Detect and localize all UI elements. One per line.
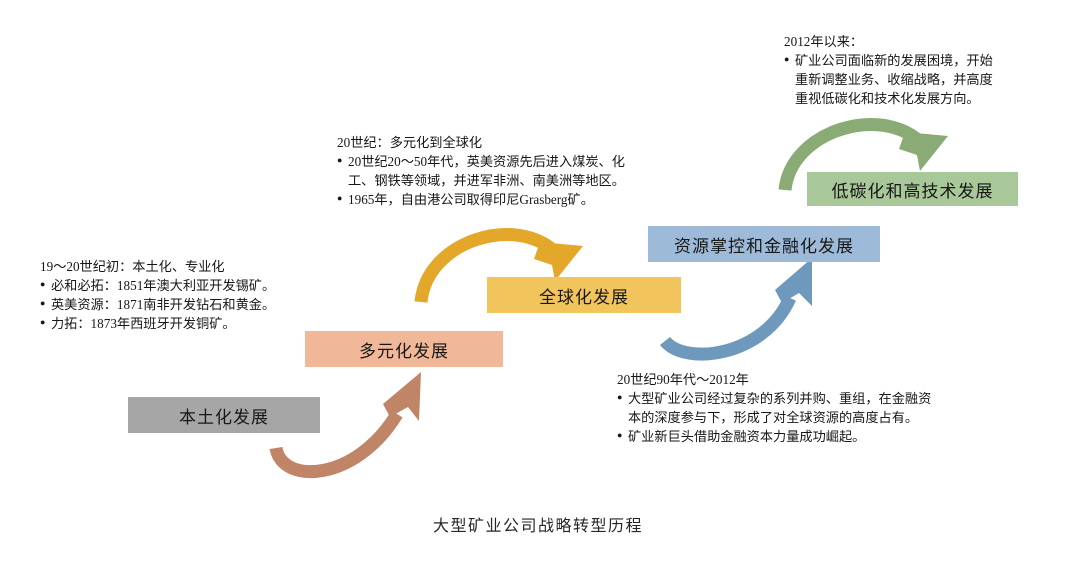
- annotation-heading: 19～20世纪初：本土化、专业化: [40, 257, 275, 276]
- stage-box-label: 全球化发展: [539, 283, 629, 308]
- annotation-1: 19～20世纪初：本土化、专业化必和必拓：1851年澳大利亚开发锡矿。英美资源：…: [40, 257, 275, 334]
- annotation-bullet-cont: 本的深度参与下，形成了对全球资源的高度占有。: [617, 408, 931, 427]
- stage-box-label: 多元化发展: [359, 337, 449, 362]
- stage-box-label: 低碳化和高技术发展: [832, 177, 994, 202]
- annotation-2: 20世纪：多元化到全球化20世纪20～50年代，英美资源先后进入煤炭、化工、钢铁…: [337, 133, 625, 210]
- stage-box-label: 本土化发展: [179, 403, 269, 428]
- annotation-bullet: 矿业公司面临新的发展困境，开始: [784, 51, 993, 70]
- arrow-diversified-to-global-head: [534, 242, 583, 281]
- annotation-heading: 20世纪：多元化到全球化: [337, 133, 625, 152]
- diagram-canvas: 本土化发展多元化发展全球化发展资源掌控和金融化发展低碳化和高技术发展 19～20…: [0, 0, 1076, 566]
- page-title: 大型矿业公司战略转型历程: [0, 512, 1076, 536]
- annotation-bullet: 矿业新巨头借助金融资本力量成功崛起。: [617, 427, 931, 446]
- stage-box-1[interactable]: 本土化发展: [128, 397, 320, 433]
- annotation-bullet: 1965年，自由港公司取得印尼Grasberg矿。: [337, 190, 625, 209]
- annotation-bullet-cont: 工、钢铁等领域，并进军非洲、南美洲等地区。: [337, 171, 625, 190]
- annotation-3: 20世纪90年代～2012年大型矿业公司经过复杂的系列并购、重组，在金融资本的深…: [617, 370, 931, 447]
- stage-box-3[interactable]: 全球化发展: [487, 277, 681, 313]
- stage-box-label: 资源掌控和金融化发展: [674, 232, 854, 257]
- annotation-heading: 20世纪90年代～2012年: [617, 370, 931, 389]
- arrow-local-to-diversified-head: [383, 372, 421, 421]
- arrow-global-to-resource-head: [775, 258, 812, 306]
- annotation-bullet: 大型矿业公司经过复杂的系列并购、重组，在金融资: [617, 389, 931, 408]
- annotation-bullet-cont: 重视低碳化和技术化发展方向。: [784, 89, 993, 108]
- annotation-bullet: 20世纪20～50年代，英美资源先后进入煤炭、化: [337, 152, 625, 171]
- arrow-global-to-resource: [665, 258, 812, 354]
- annotation-bullet: 英美资源：1871南非开发钻石和黄金。: [40, 295, 275, 314]
- annotation-bullet: 力拓：1873年西班牙开发铜矿。: [40, 314, 275, 333]
- arrow-global-to-resource-body: [665, 298, 790, 354]
- annotation-4: 2012年以来：矿业公司面临新的发展困境，开始重新调整业务、收缩战略，并高度重视…: [784, 32, 993, 109]
- annotation-bullet: 必和必拓：1851年澳大利亚开发锡矿。: [40, 276, 275, 295]
- arrow-resource-to-lowcarbon-head: [899, 132, 948, 171]
- stage-box-2[interactable]: 多元化发展: [305, 331, 503, 367]
- stage-box-4[interactable]: 资源掌控和金融化发展: [648, 226, 880, 262]
- annotation-heading: 2012年以来：: [784, 32, 993, 51]
- annotation-bullet-cont: 重新调整业务、收缩战略，并高度: [784, 70, 993, 89]
- stage-box-5[interactable]: 低碳化和高技术发展: [807, 172, 1018, 206]
